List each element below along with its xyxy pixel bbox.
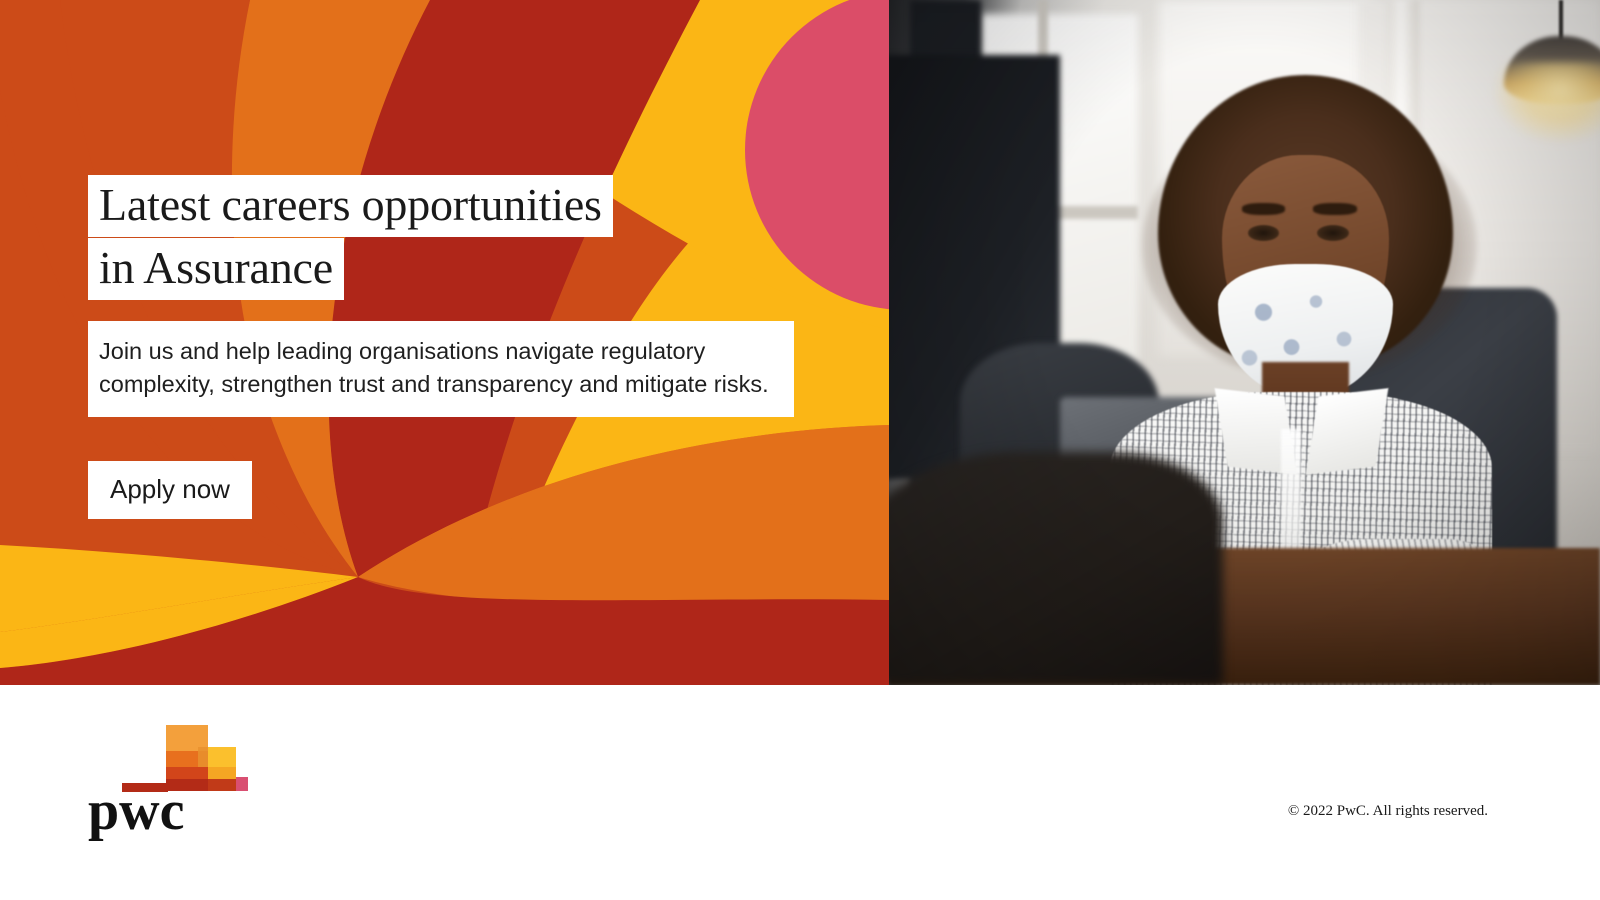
apply-now-button[interactable]: Apply now bbox=[88, 461, 252, 519]
hero-section: Latest careers opportunities in Assuranc… bbox=[0, 0, 1600, 685]
hero-subcopy: Join us and help leading organisations n… bbox=[88, 321, 794, 417]
headline-line-1: Latest careers opportunities bbox=[88, 175, 613, 237]
headline-line-2: in Assurance bbox=[88, 238, 344, 300]
hero-copy: Latest careers opportunities in Assuranc… bbox=[88, 175, 848, 519]
hero-photo bbox=[889, 0, 1600, 685]
page-title: Latest careers opportunities in Assuranc… bbox=[88, 175, 848, 300]
pwc-logo: pwc bbox=[88, 707, 248, 847]
copyright-text: © 2022 PwC. All rights reserved. bbox=[1288, 803, 1488, 820]
footer: pwc © 2022 PwC. All rights reserved. bbox=[0, 685, 1600, 900]
promo-banner: Latest careers opportunities in Assuranc… bbox=[0, 0, 1600, 900]
photo-vignette bbox=[889, 0, 1600, 685]
office-photo-illustration bbox=[889, 0, 1600, 685]
pwc-wordmark: pwc bbox=[88, 780, 184, 842]
